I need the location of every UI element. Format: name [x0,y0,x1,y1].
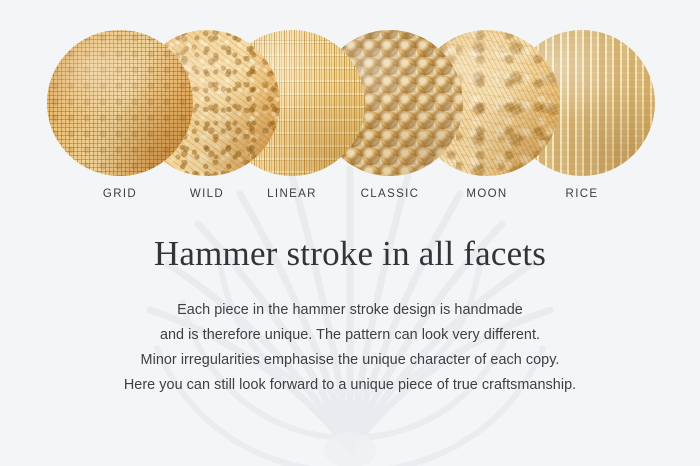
body-line-4: Here you can still look forward to a uni… [0,373,700,398]
body-line-3: Minor irregularities emphasise the uniqu… [0,348,700,373]
body-copy: Each piece in the hammer stroke design i… [0,298,700,398]
hammer-stroke-poster: GRID WILD LINEAR CLASSIC MOON RICE Hamme… [0,0,700,466]
page-title: Hammer stroke in all facets [0,234,700,274]
swatch-strip [0,30,700,178]
swatch-label-rice: RICE [522,188,642,200]
body-line-2: and is therefore unique. The pattern can… [0,323,700,348]
swatch-grid[interactable] [47,30,193,176]
body-line-1: Each piece in the hammer stroke design i… [0,298,700,323]
swatch-labels: GRID WILD LINEAR CLASSIC MOON RICE [0,188,700,206]
texture-cross-hatched-grid [47,30,193,176]
